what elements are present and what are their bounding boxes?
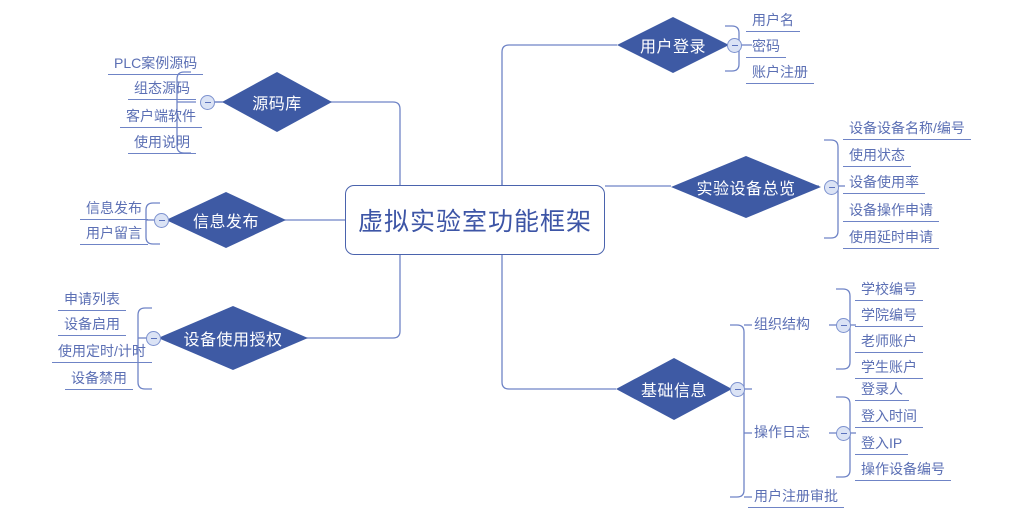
- toggle-user-login[interactable]: [727, 38, 742, 53]
- leaf-label: 用户留言: [86, 225, 142, 241]
- leaf-client-software[interactable]: 客户端软件: [120, 108, 202, 128]
- branch-label: 用户登录: [640, 33, 706, 57]
- leaf-user-message[interactable]: 用户留言: [80, 225, 148, 245]
- leaf-device-utilization[interactable]: 设备使用率: [843, 174, 925, 194]
- leaf-label: 学校编号: [861, 281, 917, 297]
- leaf-login-time[interactable]: 登入时间: [855, 408, 923, 428]
- branch-label: 信息发布: [193, 208, 259, 232]
- leaf-label: 使用延时申请: [849, 229, 933, 245]
- leaf-label: 操作设备编号: [861, 461, 945, 477]
- leaf-device-disable[interactable]: 设备禁用: [65, 370, 133, 390]
- leaf-label: 学生账户: [861, 359, 917, 375]
- leaf-label: 设备设备名称/编号: [849, 120, 965, 136]
- leaf-label: 申请列表: [64, 291, 120, 307]
- leaf-label: 登入时间: [861, 408, 917, 424]
- branch-node-basic-information[interactable]: 基础信息: [616, 358, 732, 420]
- toggle-source-code-library[interactable]: [200, 95, 215, 110]
- branch-node-information-publishing[interactable]: 信息发布: [166, 192, 286, 248]
- leaf-label: 设备操作申请: [849, 202, 933, 218]
- branch-node-device-usage-authorization[interactable]: 设备使用授权: [158, 306, 308, 370]
- toggle-lab-device-overview[interactable]: [824, 180, 839, 195]
- leaf-configuration-source[interactable]: 组态源码: [128, 80, 196, 100]
- leaf-label: 学院编号: [861, 307, 917, 323]
- minus-icon: [735, 389, 741, 390]
- leaf-info-release[interactable]: 信息发布: [80, 200, 148, 220]
- leaf-label: 账户注册: [752, 64, 808, 80]
- minus-icon: [841, 325, 847, 326]
- branch-node-source-code-library[interactable]: 源码库: [222, 72, 332, 132]
- leaf-plc-case-source[interactable]: PLC案例源码: [108, 55, 203, 75]
- leaf-login-person[interactable]: 登录人: [855, 381, 909, 401]
- leaf-usage-instructions[interactable]: 使用说明: [128, 134, 196, 154]
- leaf-usage-status[interactable]: 使用状态: [843, 147, 911, 167]
- leaf-label: 客户端软件: [126, 108, 196, 124]
- leaf-student-account[interactable]: 学生账户: [855, 359, 923, 379]
- subbranch-operation-log[interactable]: 操作日志: [750, 424, 814, 443]
- toggle-organization-structure[interactable]: [836, 318, 851, 333]
- wire-root-to-user-login: [502, 45, 617, 186]
- minus-icon: [829, 187, 835, 188]
- leaf-usage-timer[interactable]: 使用定时/计时: [52, 343, 152, 363]
- leaf-account-registration[interactable]: 账户注册: [746, 64, 814, 84]
- minus-icon: [841, 433, 847, 434]
- leaf-label: 组态源码: [134, 80, 190, 96]
- leaf-username[interactable]: 用户名: [746, 12, 800, 32]
- leaf-label: 密码: [752, 38, 780, 54]
- branch-label: 基础信息: [641, 377, 707, 401]
- subbranch-label: 组织结构: [754, 316, 810, 332]
- leaf-usage-extension-request[interactable]: 使用延时申请: [843, 229, 939, 249]
- leaf-teacher-account[interactable]: 老师账户: [855, 333, 923, 353]
- leaf-user-registration-approval[interactable]: 用户注册审批: [748, 488, 844, 508]
- leaf-label: 设备启用: [64, 316, 120, 332]
- leaf-label: 信息发布: [86, 200, 142, 216]
- leaf-label: 设备使用率: [849, 174, 919, 190]
- minus-icon: [159, 220, 165, 221]
- leaf-label: 登入IP: [861, 435, 902, 451]
- leaf-password[interactable]: 密码: [746, 38, 786, 58]
- leaf-label: 使用说明: [134, 134, 190, 150]
- leaf-device-operation-request[interactable]: 设备操作申请: [843, 202, 939, 222]
- leaf-label: 登录人: [861, 381, 903, 397]
- wire-basic-bracket: [730, 325, 744, 497]
- leaf-label: PLC案例源码: [114, 55, 197, 71]
- leaf-school-number[interactable]: 学校编号: [855, 281, 923, 301]
- toggle-information-publishing[interactable]: [154, 213, 169, 228]
- leaf-device-name-number[interactable]: 设备设备名称/编号: [843, 120, 971, 140]
- leaf-college-number[interactable]: 学院编号: [855, 307, 923, 327]
- leaf-label: 设备禁用: [71, 370, 127, 386]
- leaf-operated-device-number[interactable]: 操作设备编号: [855, 461, 951, 481]
- branch-label: 实验设备总览: [696, 175, 795, 199]
- leaf-label: 使用定时/计时: [58, 343, 146, 359]
- leaf-label: 用户名: [752, 12, 794, 28]
- minus-icon: [151, 338, 157, 339]
- branch-label: 设备使用授权: [183, 326, 282, 350]
- leaf-device-enable[interactable]: 设备启用: [58, 316, 126, 336]
- leaf-label: 用户注册审批: [754, 488, 838, 504]
- branch-label: 源码库: [252, 90, 302, 114]
- mindmap-canvas: 虚拟实验室功能框架 源码库 PLC案例源码 组态源码 客户端软件 使用说明 信息…: [0, 0, 1010, 513]
- toggle-operation-log[interactable]: [836, 426, 851, 441]
- root-node-label: 虚拟实验室功能框架: [358, 202, 592, 238]
- minus-icon: [732, 45, 738, 46]
- leaf-label: 使用状态: [849, 147, 905, 163]
- branch-node-lab-device-overview[interactable]: 实验设备总览: [671, 156, 821, 218]
- leaf-label: 老师账户: [861, 333, 917, 349]
- leaf-application-list[interactable]: 申请列表: [58, 291, 126, 311]
- minus-icon: [205, 102, 211, 103]
- subbranch-label: 操作日志: [754, 424, 810, 440]
- wire-root-to-basic-information: [502, 255, 616, 389]
- toggle-basic-information[interactable]: [730, 382, 745, 397]
- leaf-login-ip[interactable]: 登入IP: [855, 435, 908, 455]
- branch-node-user-login[interactable]: 用户登录: [617, 17, 729, 73]
- root-node[interactable]: 虚拟实验室功能框架: [345, 185, 605, 255]
- subbranch-organization-structure[interactable]: 组织结构: [750, 316, 814, 335]
